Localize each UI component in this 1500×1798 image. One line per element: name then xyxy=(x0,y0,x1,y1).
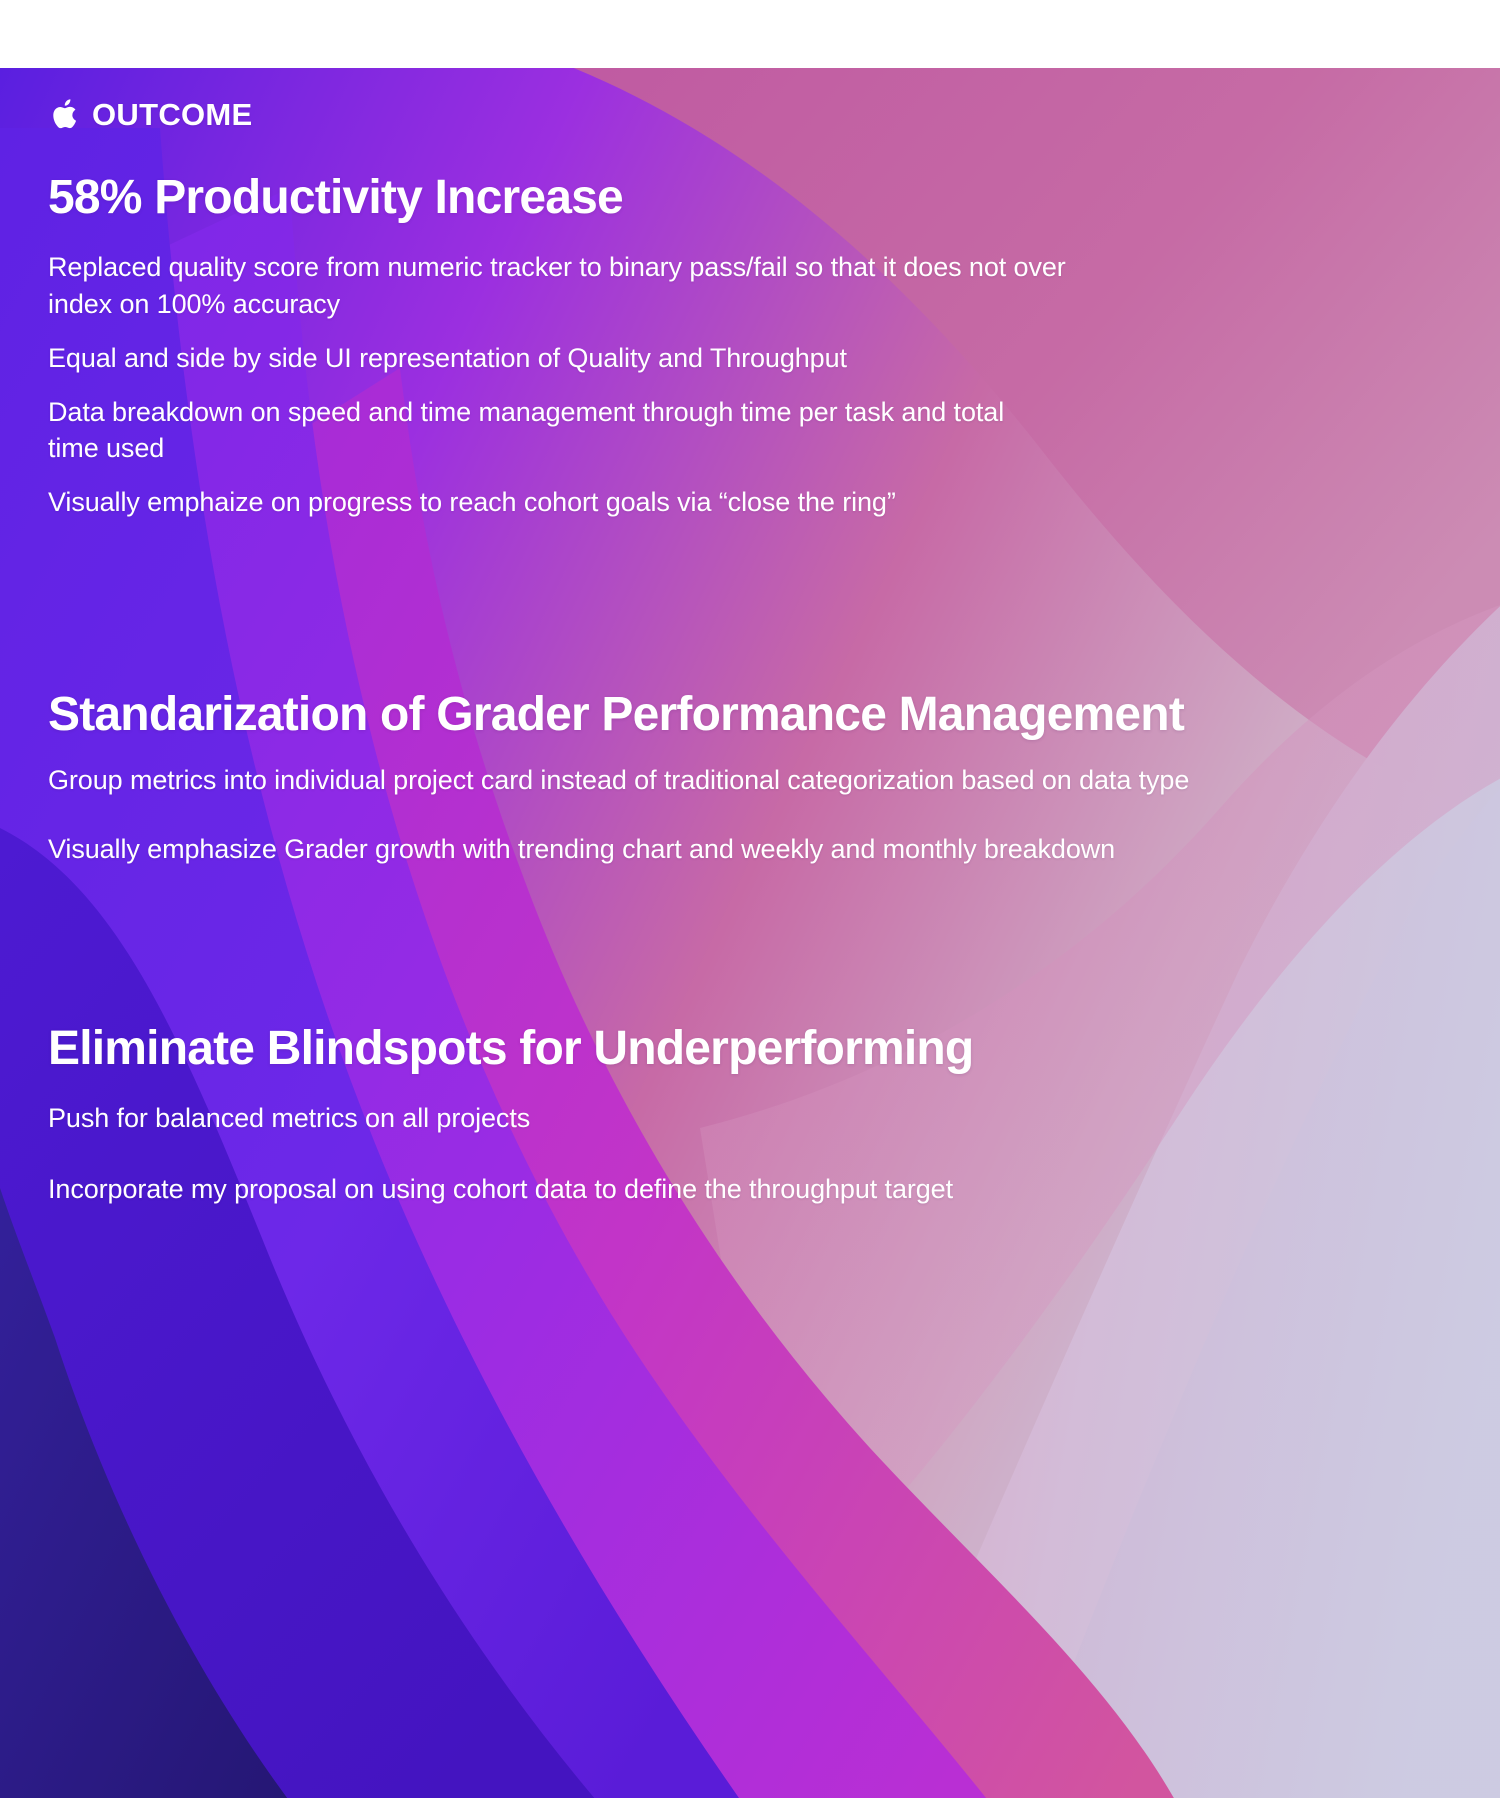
bullet-item: Visually emphaize on progress to reach c… xyxy=(48,484,1288,520)
section-heading: Eliminate Blindspots for Underperforming xyxy=(48,1023,1468,1074)
bullet-item: Data breakdown on speed and time managem… xyxy=(48,394,1058,466)
eyebrow: OUTCOME xyxy=(48,96,253,132)
bullet-item: Push for balanced metrics on all project… xyxy=(48,1100,1468,1136)
bullet-item: Incorporate my proposal on using cohort … xyxy=(48,1171,1468,1207)
section-heading: Standarization of Grader Performance Man… xyxy=(48,689,1468,740)
slide-content: OUTCOME 58% Productivity Increase Replac… xyxy=(0,0,1500,1798)
bullet-item: Equal and side by side UI representation… xyxy=(48,340,1288,376)
apple-logo-icon xyxy=(48,96,78,132)
section-heading: 58% Productivity Increase xyxy=(48,172,1468,223)
bullet-item: Group metrics into individual project ca… xyxy=(48,762,1468,798)
section-standarization: Standarization of Grader Performance Man… xyxy=(48,689,1468,899)
bullet-item: Visually emphasize Grader growth with tr… xyxy=(48,831,1468,867)
eyebrow-label: OUTCOME xyxy=(92,99,253,130)
section-blindspots: Eliminate Blindspots for Underperforming… xyxy=(48,1023,1468,1241)
top-white-strip xyxy=(0,0,1500,68)
bullet-list: Group metrics into individual project ca… xyxy=(48,762,1468,866)
outcome-slide: OUTCOME 58% Productivity Increase Replac… xyxy=(0,0,1500,1798)
section-productivity: 58% Productivity Increase Replaced quali… xyxy=(48,172,1468,538)
bullet-list: Replaced quality score from numeric trac… xyxy=(48,249,1468,520)
bullet-list: Push for balanced metrics on all project… xyxy=(48,1100,1468,1206)
bullet-item: Replaced quality score from numeric trac… xyxy=(48,249,1068,321)
